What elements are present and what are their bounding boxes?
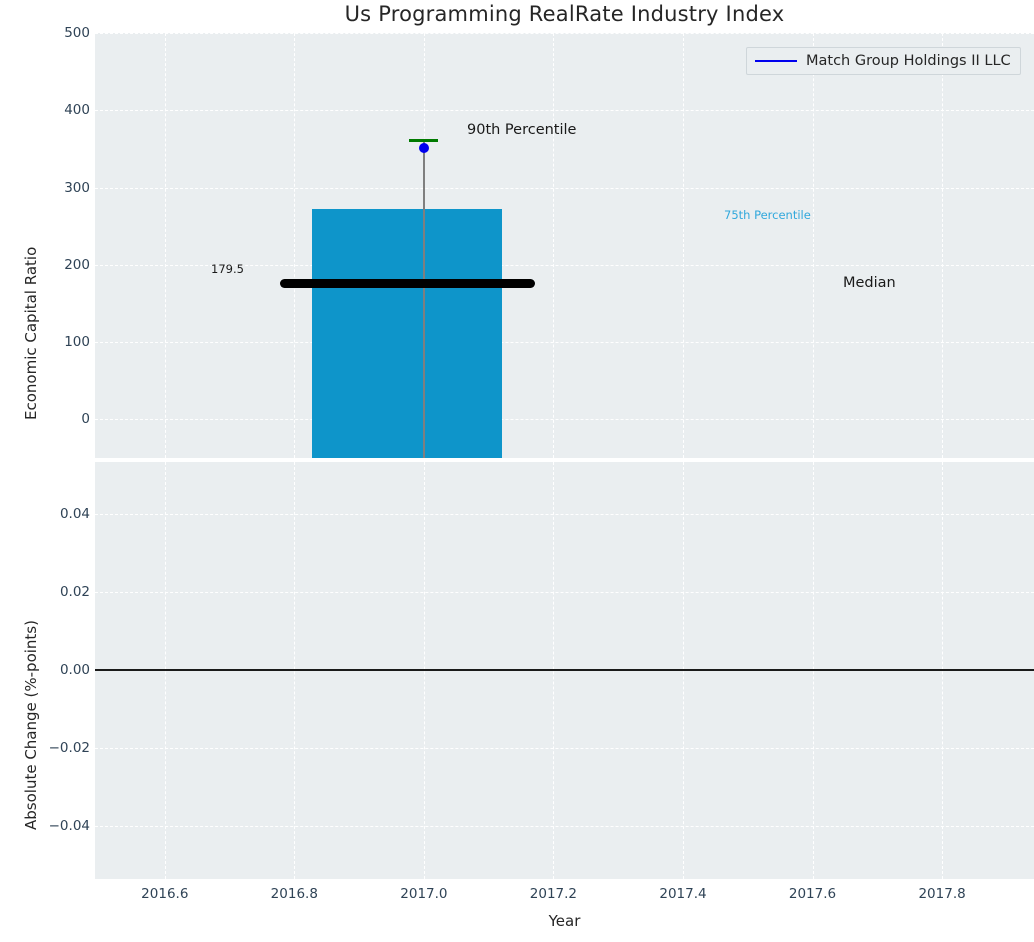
- annotation-median-value: 179.5: [211, 262, 244, 276]
- y-axis-label-bottom: Absolute Change (%-points): [22, 620, 40, 830]
- whisker-line: [423, 141, 425, 458]
- ytick-top-400: 400: [64, 102, 90, 118]
- cap-90th-percentile: [409, 139, 438, 143]
- ytick-top-0: 0: [81, 411, 90, 427]
- zero-reference-line: [95, 669, 1034, 671]
- gridline-v: [553, 33, 554, 458]
- ytick-bottom--0.02: −0.02: [49, 740, 90, 756]
- legend-line-icon: [755, 60, 797, 62]
- annotation-75th-percentile: 75th Percentile: [724, 208, 811, 222]
- xtick-2017.4: 2017.4: [659, 886, 706, 902]
- ytick-bottom--0.04: −0.04: [49, 818, 90, 834]
- xtick-2016.6: 2016.6: [141, 886, 188, 902]
- panel-absolute-change: [95, 462, 1034, 879]
- gridline-v: [294, 33, 295, 458]
- xtick-2017.8: 2017.8: [918, 886, 965, 902]
- xtick-2016.8: 2016.8: [271, 886, 318, 902]
- ytick-top-500: 500: [64, 25, 90, 41]
- marker-match-group-value: [419, 143, 429, 153]
- ytick-top-100: 100: [64, 334, 90, 350]
- xtick-2017.6: 2017.6: [789, 886, 836, 902]
- y-axis-label-top: Economic Capital Ratio: [22, 247, 40, 420]
- gridline-h: [95, 188, 1034, 189]
- gridline-v: [683, 33, 684, 458]
- bar-75th-percentile: [312, 209, 502, 458]
- legend[interactable]: Match Group Holdings II LLC: [746, 47, 1021, 75]
- gridline-v: [942, 33, 943, 458]
- gridline-v: [813, 33, 814, 458]
- gridline-h: [95, 514, 1034, 515]
- gridline-v: [165, 33, 166, 458]
- xtick-2017.0: 2017.0: [400, 886, 447, 902]
- gridline-h: [95, 419, 1034, 420]
- ytick-top-300: 300: [64, 180, 90, 196]
- chart-figure: Us Programming RealRate Industry Index: [0, 0, 1034, 942]
- legend-label: Match Group Holdings II LLC: [806, 53, 1011, 69]
- panel-economic-capital-ratio: [95, 33, 1034, 458]
- gridline-h: [95, 592, 1034, 593]
- ytick-bottom-0.04: 0.04: [60, 506, 90, 522]
- ytick-bottom-0.02: 0.02: [60, 584, 90, 600]
- gridline-h: [95, 33, 1034, 34]
- annotation-median: Median: [843, 275, 896, 291]
- ytick-bottom-0.00: 0.00: [60, 662, 90, 678]
- gridline-h: [95, 110, 1034, 111]
- gridline-h: [95, 748, 1034, 749]
- annotation-90th-percentile: 90th Percentile: [467, 122, 576, 138]
- xtick-2017.2: 2017.2: [530, 886, 577, 902]
- gridline-h: [95, 826, 1034, 827]
- x-axis-label: Year: [95, 912, 1034, 930]
- page-title: Us Programming RealRate Industry Index: [95, 2, 1034, 26]
- gridline-h: [95, 342, 1034, 343]
- ytick-top-200: 200: [64, 257, 90, 273]
- median-line: [280, 279, 535, 288]
